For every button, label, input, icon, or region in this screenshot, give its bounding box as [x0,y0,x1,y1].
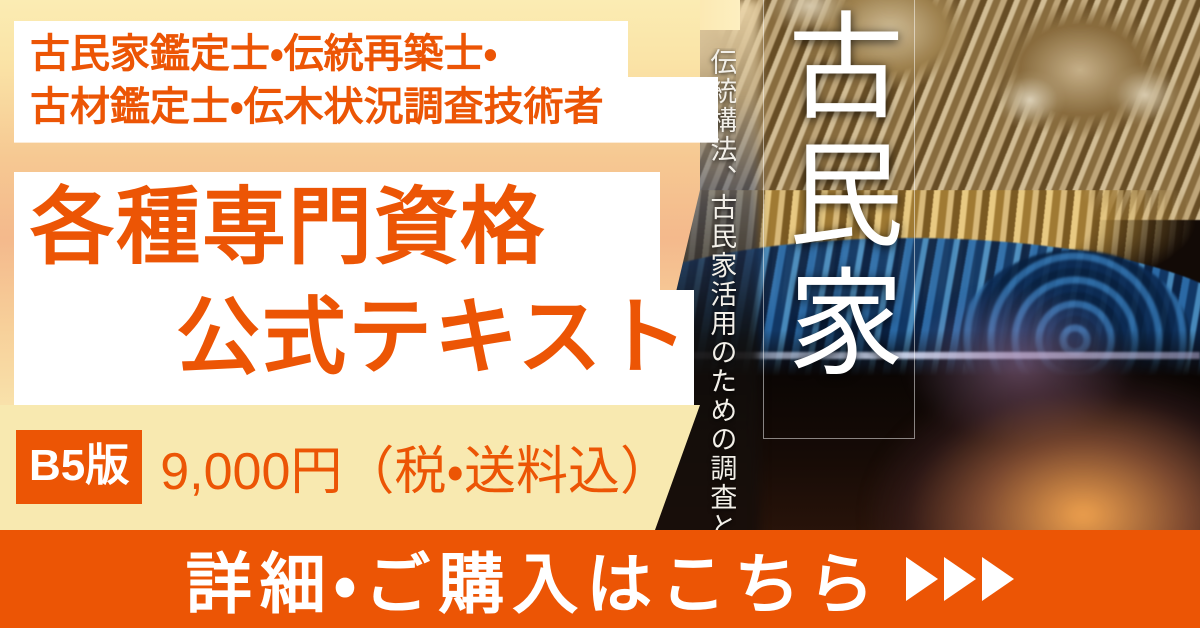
cta-arrows [906,557,1014,601]
price-row: B5版 9,000円（税・送料込） [16,429,672,504]
headline-panel: 各種専門資格 公式テキスト [14,172,694,405]
headline-line-2: 公式テキスト [176,284,689,392]
play-arrow-icon [906,557,938,601]
headline-line-1: 各種専門資格 [30,174,546,282]
cta-label: 詳細・ご購入はこちら [186,531,882,627]
play-arrow-icon [944,557,976,601]
qualifications-panel: 古民家鑑定士・伝統再築士・ 古材鑑定士・伝木状況調査技術者 [14,21,718,143]
qualifications-line-1: 古民家鑑定士・伝統再築士・ [14,28,718,81]
book-cover-title: 古民家 [778,6,902,390]
play-arrow-icon [982,557,1014,601]
price-amount: 9,000円（税・送料込） [160,429,672,504]
size-badge: B5版 [16,430,142,504]
qualifications-line-2: 古材鑑定士・伝木状況調査技術者 [14,81,718,134]
cta-bar[interactable]: 詳細・ご購入はこちら [0,530,1200,628]
promo-banner: 伝統構法、古民家活用のための調査と再生の 古民家 古民家鑑定士・伝統再築士・ 古… [0,0,1200,628]
